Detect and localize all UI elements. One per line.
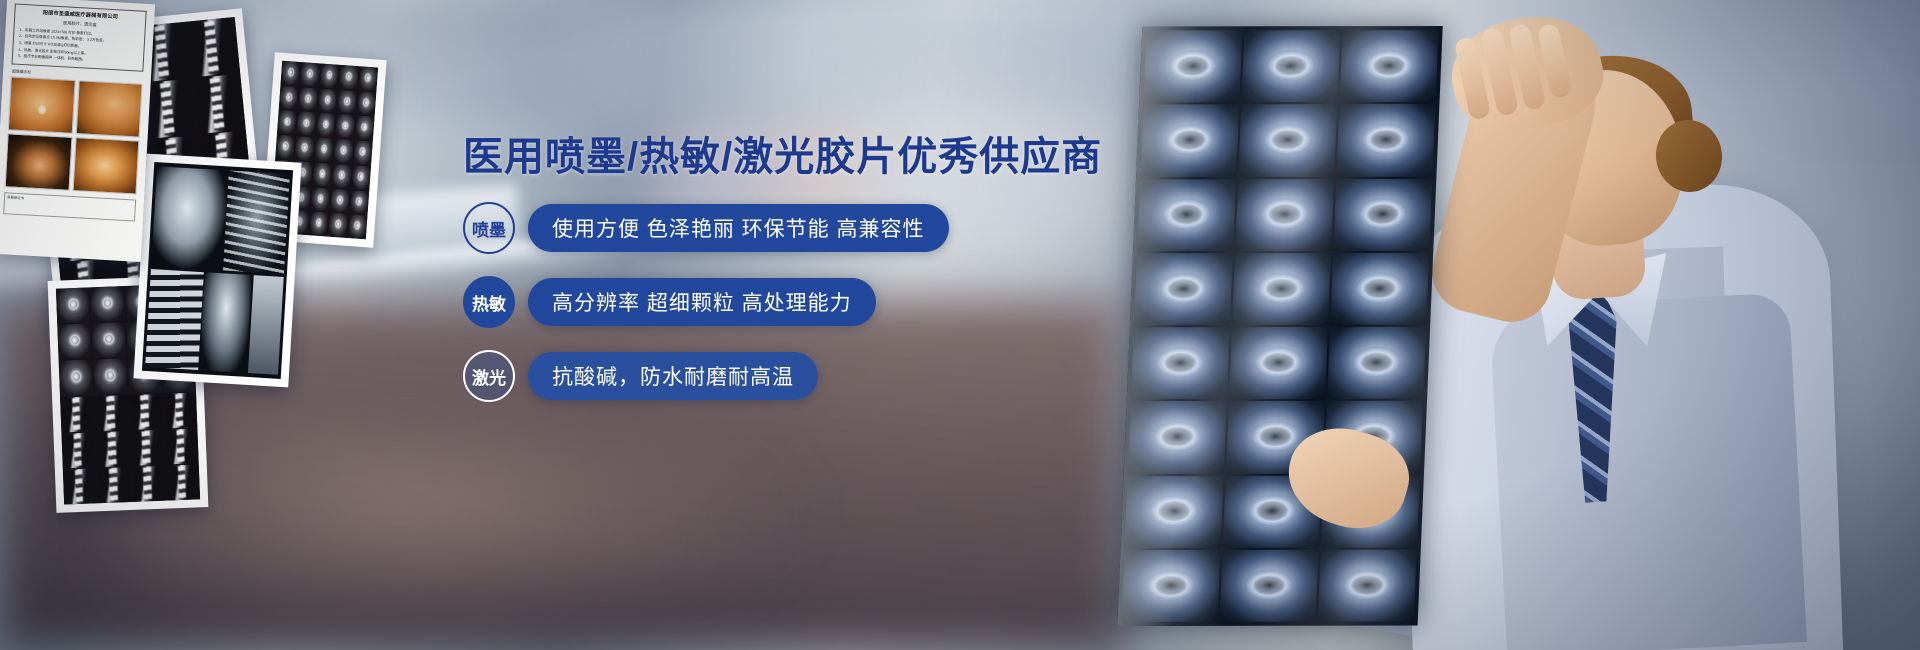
feature-tag-laser[interactable]: 激光	[463, 350, 515, 402]
feature-tag-thermal[interactable]: 热敏	[463, 276, 515, 328]
feature-list: 喷墨 使用方便 色泽艳丽 环保节能 高兼容性 热敏 高分辨率 超细颗粒 高处理能…	[463, 202, 1083, 402]
banner-content: 医用喷墨/热敏/激光胶片优秀供应商 喷墨 使用方便 色泽艳丽 环保节能 高兼容性…	[463, 134, 1083, 424]
feature-row-inkjet: 喷墨 使用方便 色泽艳丽 环保节能 高兼容性	[463, 202, 1083, 254]
feature-tag-inkjet[interactable]: 喷墨	[463, 202, 515, 254]
page-title: 医用喷墨/热敏/激光胶片优秀供应商	[463, 134, 1083, 180]
hero-banner: 阳朋市圣盛威医疗器械有限公司 医用胶片、透光盒 1、彩超工作站像素 1024×7…	[0, 0, 1920, 650]
feature-text-inkjet: 使用方便 色泽艳丽 环保节能 高兼容性	[528, 204, 949, 252]
feature-row-thermal: 热敏 高分辨率 超细颗粒 高处理能力	[463, 276, 1083, 328]
feature-text-thermal: 高分辨率 超细颗粒 高处理能力	[528, 278, 876, 326]
feature-row-laser: 激光 抗酸碱，防水耐磨耐高温	[463, 350, 1083, 402]
feature-text-laser: 抗酸碱，防水耐磨耐高温	[528, 352, 818, 400]
